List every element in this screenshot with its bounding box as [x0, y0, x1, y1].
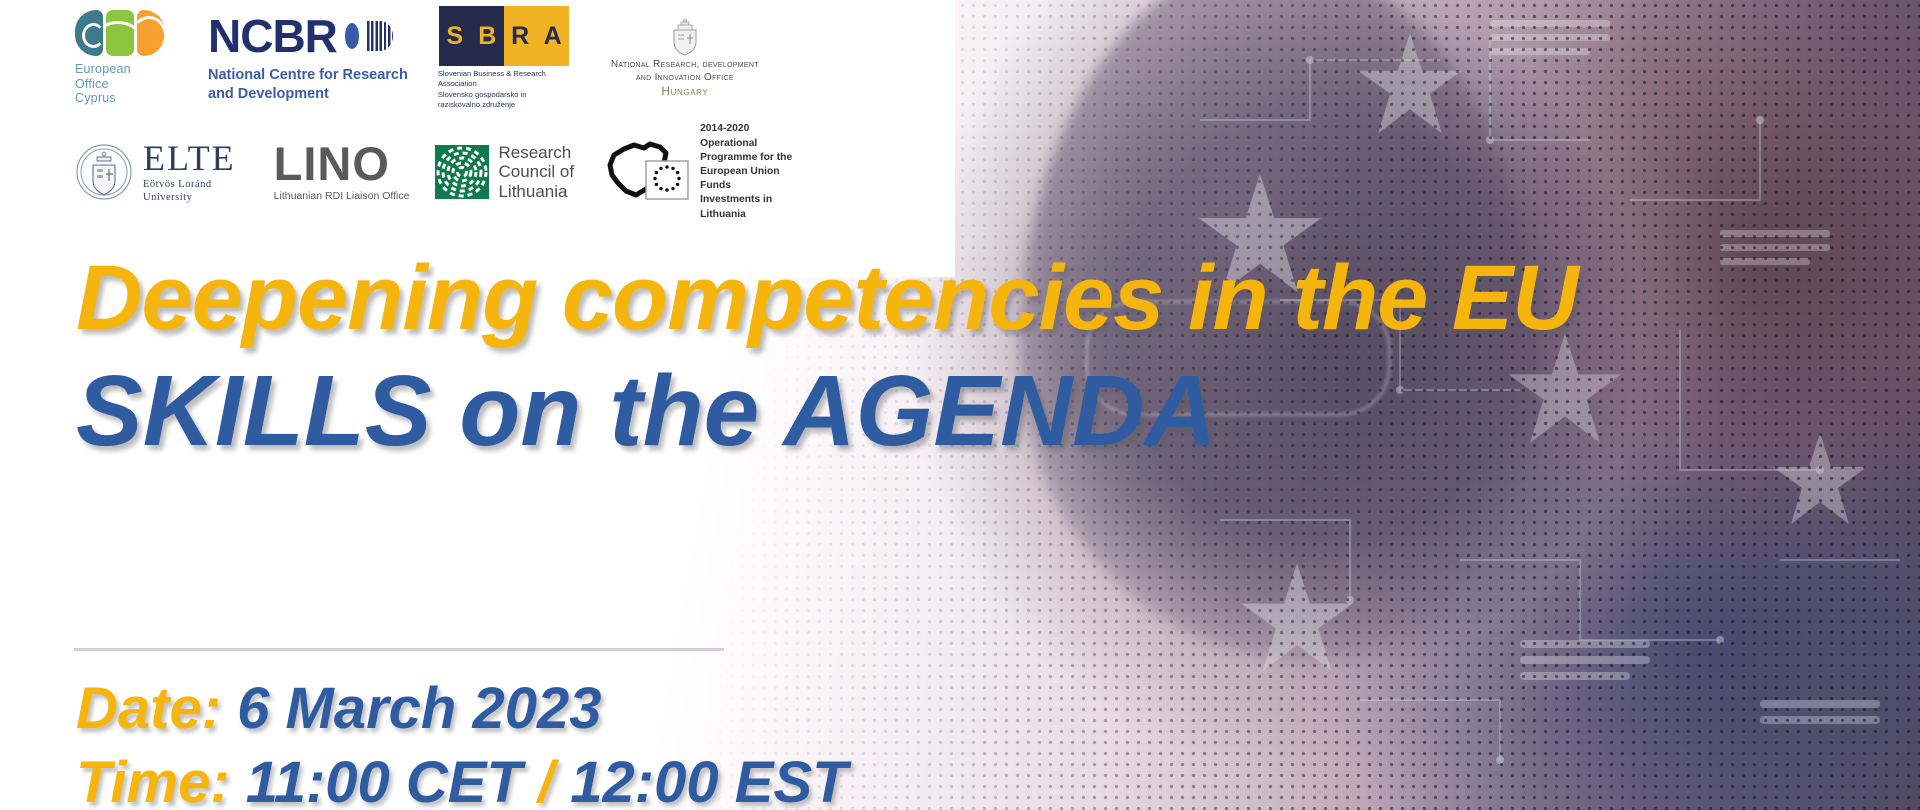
lino-subtitle: Lithuanian RDI Liaison Office	[274, 190, 410, 202]
logo-nrdi-hungary: National Research, development and Innov…	[600, 18, 770, 98]
eu-funds-lithuania-text: 2014-2020 Operational Programme for the …	[700, 122, 808, 221]
event-details: Date: 6 March 2023 Time: 11:00 CET / 12:…	[76, 672, 848, 810]
sbra-mark-icon: S B R A	[439, 6, 569, 66]
elte-seal-icon	[75, 143, 133, 201]
logo-eoc-text: European Office Cyprus	[75, 62, 131, 106]
elte-subtitle: Eötvös Loránd University	[143, 178, 236, 204]
logo-elte: ELTE Eötvös Loránd University	[75, 140, 236, 204]
european-office-cyprus-mark-icon	[75, 10, 165, 56]
time-value-est: 12:00 EST	[570, 750, 847, 810]
logo-research-council-lithuania: Research Council of Lithuania	[435, 143, 574, 200]
time-value-cet: 11:00 CET	[246, 750, 522, 810]
sbra-letter: S	[446, 22, 463, 51]
lino-wordmark: LINO	[274, 142, 410, 187]
partner-logo-panel: European Office Cyprus NCBR National Cen…	[0, 0, 955, 277]
ncbr-dot-icon	[345, 23, 359, 49]
ncbr-subtitle: National Centre for Research and Develop…	[208, 66, 408, 103]
hungarian-coat-of-arms-icon	[670, 18, 700, 56]
nrdi-country: Hungary	[661, 84, 708, 98]
sbra-letter: R	[511, 22, 529, 51]
event-poster: European Office Cyprus NCBR National Cen…	[0, 0, 1920, 810]
logo-european-office-cyprus: European Office Cyprus	[75, 10, 180, 106]
date-label: Date:	[76, 676, 221, 741]
nrdi-title: National Research, development and Innov…	[611, 58, 759, 84]
logo-lino: LINO Lithuanian RDI Liaison Office	[274, 142, 410, 202]
elte-wordmark: ELTE	[143, 140, 236, 176]
logo-row-2: ELTE Eötvös Loránd University LINO Lithu…	[75, 128, 808, 216]
sbra-letter: A	[544, 22, 562, 51]
section-divider	[74, 648, 724, 651]
logo-eu-funds-lithuania: 2014-2020 Operational Programme for the …	[600, 122, 808, 221]
logo-ncbr: NCBR National Centre for Research and De…	[208, 13, 408, 103]
event-time-line: Time: 11:00 CET / 12:00 EST	[76, 746, 848, 810]
time-separator: /	[538, 750, 554, 810]
sbra-letter: B	[478, 22, 496, 51]
time-label: Time:	[76, 750, 230, 810]
logo-sbra: S B R A Slovenian Business & Research As…	[438, 6, 570, 110]
date-value: 6 March 2023	[237, 676, 601, 741]
lithuania-outline-eu-stars-icon	[600, 139, 692, 205]
research-council-lithuania-text: Research Council of Lithuania	[498, 143, 574, 200]
ncbr-fan-icon	[367, 21, 393, 51]
event-date-line: Date: 6 March 2023	[76, 672, 848, 746]
poster-headline: Deepening competencies in the EU SKILLS …	[76, 252, 1906, 462]
logo-row-1: European Office Cyprus NCBR National Cen…	[75, 6, 770, 110]
headline-line-2: SKILLS on the AGENDA	[76, 360, 1906, 462]
headline-line-1: Deepening competencies in the EU	[76, 252, 1906, 346]
sbra-caption: Slovenian Business & Research Associatio…	[438, 69, 570, 110]
ncbr-wordmark: NCBR	[208, 13, 337, 59]
research-council-lithuania-mark-icon	[435, 145, 489, 199]
